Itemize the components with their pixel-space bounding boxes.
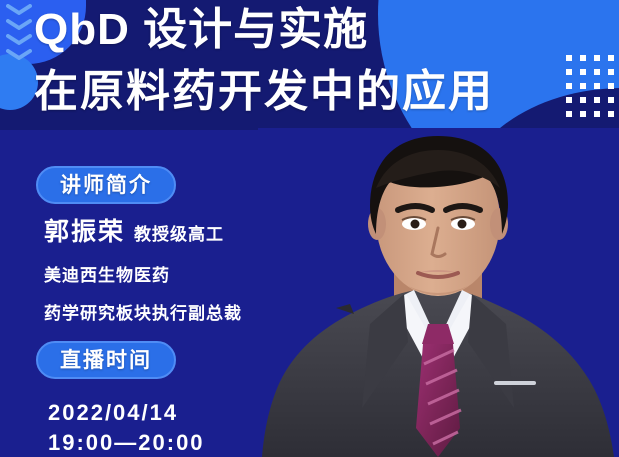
speaker-name: 郭振荣 — [44, 212, 125, 248]
dot-square-icon — [608, 83, 614, 89]
chevron-down-icon — [6, 4, 32, 15]
dot-square-icon — [594, 111, 600, 117]
speaker-organization: 美迪西生物医药 — [44, 261, 304, 286]
speaker-rank: 教授级高工 — [134, 220, 224, 245]
poster-title: QbD 设计与实施 在原料药开发中的应用 — [32, 6, 592, 114]
live-date: 2022/04/14 — [48, 398, 205, 428]
live-time-badge: 直播时间 — [36, 341, 176, 379]
speaker-section-badge: 讲师简介 — [36, 166, 176, 204]
dot-square-icon — [594, 97, 600, 103]
dot-square-icon — [608, 111, 614, 117]
live-datetime: 2022/04/14 19:00—20:00 — [48, 398, 205, 457]
speaker-details: 郭振荣 教授级高工 美迪西生物医药 药学研究板块执行副总裁 — [44, 212, 304, 324]
speaker-portrait-photo — [258, 128, 619, 457]
title-line-2: 在原料药开发中的应用 — [34, 70, 592, 114]
speaker-name-row: 郭振荣 教授级高工 — [44, 212, 304, 248]
dot-square-icon — [594, 69, 600, 75]
chevron-down-icon — [6, 49, 32, 60]
chevron-down-icon — [6, 34, 32, 45]
dot-square-icon — [608, 69, 614, 75]
dot-square-icon — [594, 83, 600, 89]
speaker-job-title: 药学研究板块执行副总裁 — [44, 299, 304, 324]
live-time-range: 19:00—20:00 — [48, 428, 205, 457]
webinar-poster: QbD 设计与实施 在原料药开发中的应用 讲师简介 郭振荣 教授级高工 美迪西生… — [0, 0, 619, 457]
title-line-1: QbD 设计与实施 — [34, 8, 592, 52]
dot-square-icon — [608, 55, 614, 61]
chevron-down-icon — [6, 19, 32, 30]
dot-square-icon — [594, 55, 600, 61]
dot-square-icon — [608, 97, 614, 103]
